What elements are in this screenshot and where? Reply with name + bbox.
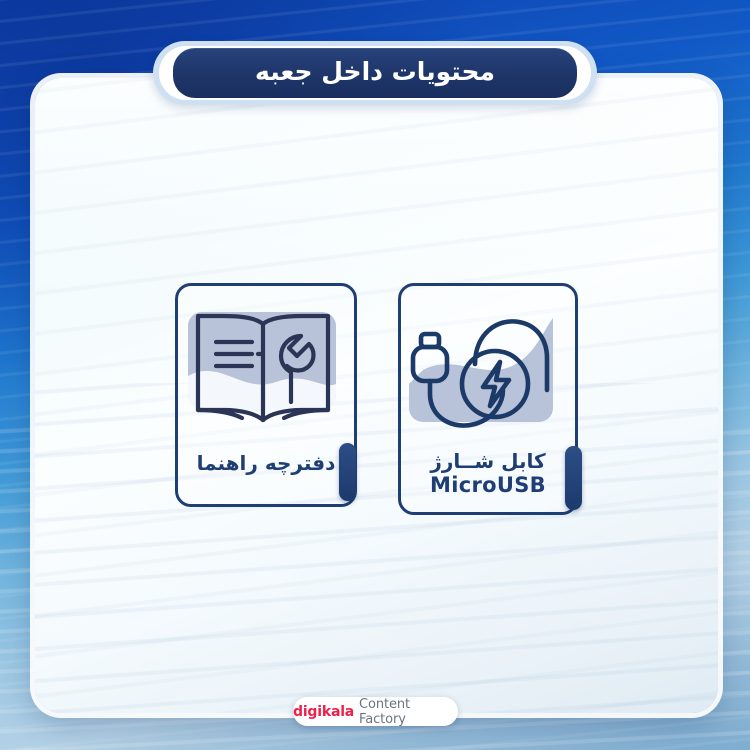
page-title: محتویات داخل جعبه: [255, 59, 495, 87]
item-card-cable[interactable]: کابل شــارژ MicroUSB: [398, 283, 578, 515]
card-label-cable-fa: کابل شــارژ: [407, 450, 569, 474]
card-label-manual-fa: دفترچه راهنما: [184, 452, 348, 476]
card-label-manual: دفترچه راهنما: [184, 452, 348, 476]
content-panel: [35, 78, 718, 713]
charging-cable-icon: [401, 298, 575, 438]
title-banner-inner: محتویات داخل جعبه: [173, 48, 577, 98]
card-bookmark-cable: [565, 446, 582, 510]
card-label-cable-en: MicroUSB: [407, 473, 569, 498]
card-label-cable: کابل شــارژ MicroUSB: [407, 450, 569, 498]
brand-suffix: Content Factory: [359, 697, 458, 727]
panel-sheen: [35, 78, 718, 318]
title-banner: محتویات داخل جعبه: [153, 41, 597, 105]
poster-canvas: محتویات داخل جعبه: [0, 0, 750, 750]
card-bookmark-manual: [339, 443, 356, 501]
panel-wave-pattern: [35, 78, 718, 713]
footer-brand-badge: digikala Content Factory: [293, 697, 458, 726]
item-card-manual[interactable]: دفترچه راهنما: [175, 283, 357, 507]
book-wrench-icon: [178, 298, 354, 438]
brand-name: digikala: [293, 704, 354, 720]
panel-wave-pattern-lower: [35, 383, 718, 713]
